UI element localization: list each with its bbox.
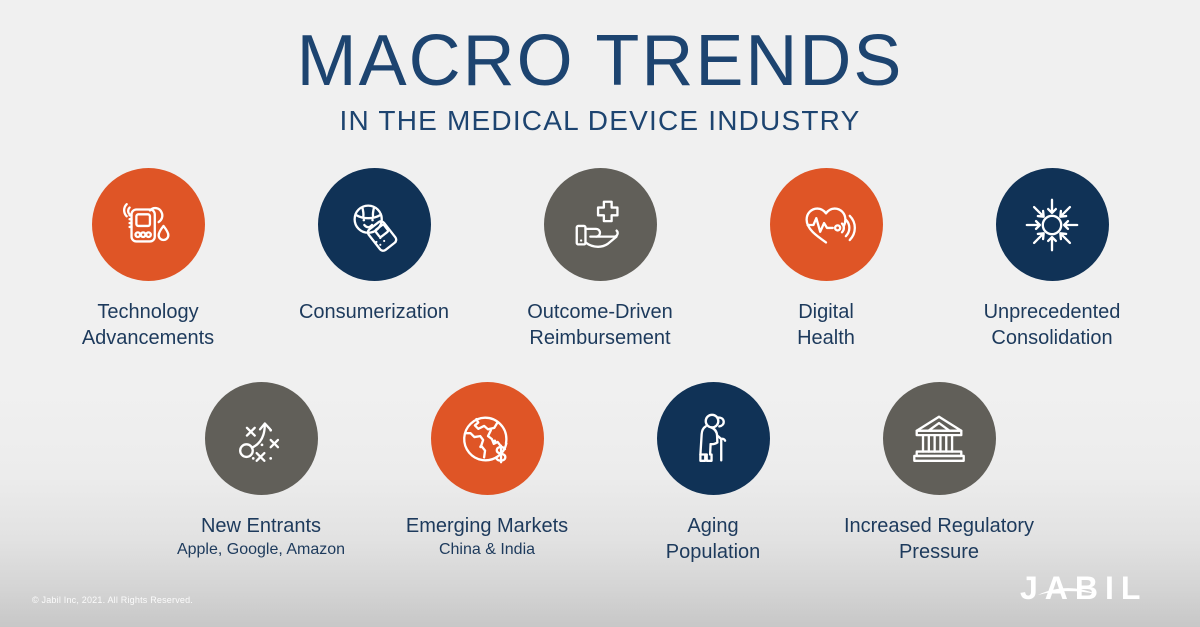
trend-icon-circle: [657, 382, 770, 495]
inward-arrows-icon: [1021, 194, 1083, 256]
page-title: MACRO TRENDS: [0, 24, 1200, 99]
trend-label: Outcome-Driven Reimbursement: [527, 299, 673, 352]
trend-icon-circle: [544, 168, 657, 281]
trend-label: Digital Health: [797, 299, 855, 352]
copyright-text: © Jabil Inc, 2021. All Rights Reserved.: [32, 595, 193, 605]
glucose-monitor-icon: [117, 194, 179, 256]
trend-label: Consumerization: [299, 299, 449, 325]
poster-header: MACRO TRENDS IN THE MEDICAL DEVICE INDUS…: [0, 24, 1200, 137]
strategy-playbook-icon: [230, 408, 292, 470]
trend-row-2: New Entrants Apple, Google, Amazon: [0, 382, 1200, 567]
trend-label: Unprecedented Consolidation: [984, 299, 1121, 352]
trend-label: Increased Regulatory Pressure: [844, 513, 1034, 566]
trend-item-aging-population: Aging Population: [600, 382, 826, 567]
trend-sublabel: Apple, Google, Amazon: [177, 540, 345, 561]
trend-icon-circle: [92, 168, 205, 281]
person-with-phone-icon: [343, 194, 405, 256]
trend-item-digital-health: Digital Health: [713, 168, 939, 353]
jabil-logo-text: JABIL: [1020, 570, 1147, 606]
trend-label: Emerging Markets: [406, 513, 568, 539]
trend-item-emerging-markets: Emerging Markets China & India: [374, 382, 600, 567]
heart-pulse-signal-icon: [795, 194, 857, 256]
government-building-icon: [908, 408, 970, 470]
trend-item-new-entrants: New Entrants Apple, Google, Amazon: [148, 382, 374, 567]
trend-label: New Entrants: [201, 513, 321, 539]
hand-holding-cross-icon: [569, 194, 631, 256]
trend-icon-circle: [996, 168, 1109, 281]
jabil-logo: JABIL: [1020, 569, 1170, 609]
trend-item-outcome-driven-reimbursement: Outcome-Driven Reimbursement: [487, 168, 713, 353]
trend-icon-circle: [770, 168, 883, 281]
infographic-poster: MACRO TRENDS IN THE MEDICAL DEVICE INDUS…: [0, 0, 1200, 627]
trend-item-increased-regulatory-pressure: Increased Regulatory Pressure: [826, 382, 1052, 567]
trend-item-unprecedented-consolidation: Unprecedented Consolidation: [939, 168, 1165, 353]
trend-icon-circle: [431, 382, 544, 495]
page-subtitle: IN THE MEDICAL DEVICE INDUSTRY: [0, 105, 1200, 137]
trend-sublabel: China & India: [439, 540, 535, 561]
trend-label: Technology Advancements: [82, 299, 214, 352]
trend-row-1: Technology Advancements: [0, 168, 1200, 353]
trend-icon-circle: [318, 168, 431, 281]
trend-icon-circle: [883, 382, 996, 495]
elderly-person-cane-icon: [682, 408, 744, 470]
trend-item-consumerization: Consumerization: [261, 168, 487, 353]
trend-icon-circle: [205, 382, 318, 495]
trend-item-technology-advancements: Technology Advancements: [35, 168, 261, 353]
trend-label: Aging Population: [666, 513, 761, 566]
globe-dollar-icon: [456, 408, 518, 470]
